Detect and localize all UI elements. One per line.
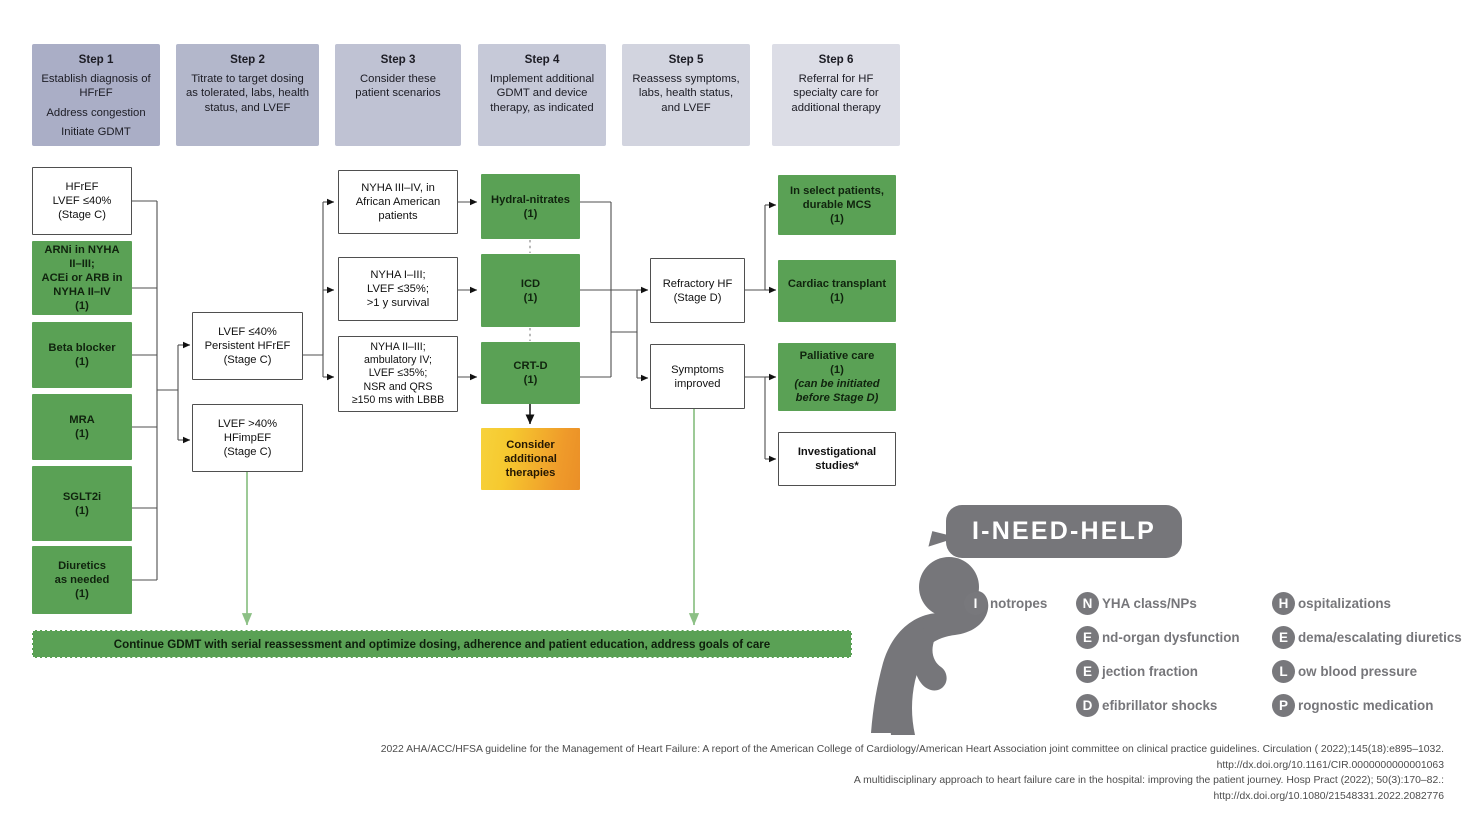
box-line: Refractory HF	[655, 277, 740, 291]
box-line: ARNi in NYHA	[36, 243, 128, 257]
box-line: (1)	[36, 504, 128, 518]
citation-link[interactable]: http://dx.doi.org/10.1161/CIR.0000000000…	[40, 758, 1444, 774]
step-line: Initiate GDMT	[61, 125, 131, 139]
i-need-help-title: I-NEED-HELP	[972, 517, 1156, 546]
citation-line: A multidisciplinary approach to heart fa…	[40, 773, 1444, 789]
refractory-hf-box[interactable]: Refractory HF (Stage D)	[650, 258, 745, 323]
step-line: Titrate to target dosing as tolerated, l…	[184, 72, 311, 115]
step-title: Step 4	[525, 53, 560, 67]
legend-item-nyha: N YHA class/NPs	[1076, 592, 1197, 615]
legend-badge-n: N	[1076, 592, 1099, 615]
box-line: durable MCS	[782, 198, 892, 212]
legend-label: dema/escalating diuretics	[1298, 630, 1462, 645]
box-line: (1)	[782, 291, 892, 305]
box-line: (1)	[36, 299, 128, 313]
box-line: SGLT2i	[36, 490, 128, 504]
cardiac-transplant-box[interactable]: Cardiac transplant (1)	[778, 260, 896, 322]
box-line: >1 y survival	[343, 296, 453, 310]
box-line: ACEi or ARB in	[36, 271, 128, 285]
step-title: Step 2	[230, 53, 265, 67]
box-line: NYHA II–IV	[36, 285, 128, 299]
citations: 2022 AHA/ACC/HFSA guideline for the Mana…	[40, 742, 1444, 804]
step-title: Step 6	[819, 53, 854, 67]
citation-link[interactable]: http://dx.doi.org/10.1080/21548331.2022.…	[40, 789, 1444, 805]
hydral-nitrates-box[interactable]: Hydral-nitrates (1)	[481, 174, 580, 239]
box-line: NYHA III–IV, in	[343, 181, 453, 195]
legend-item-inotropes: I notropes	[964, 592, 1047, 615]
box-line: (1)	[485, 291, 576, 305]
box-line: LVEF ≤40%	[37, 194, 127, 208]
legend-label: notropes	[990, 596, 1047, 611]
diuretics-box[interactable]: Diuretics as needed (1)	[32, 546, 132, 614]
legend-label: jection fraction	[1102, 664, 1198, 679]
box-line: Consider	[485, 438, 576, 452]
legend-label: YHA class/NPs	[1102, 596, 1197, 611]
box-line: (1)	[782, 212, 892, 226]
legend-label: ospitalizations	[1298, 596, 1391, 611]
consider-additional-therapies-box[interactable]: Consider additional therapies	[481, 428, 580, 490]
hfref-lvef-box[interactable]: HFrEF LVEF ≤40% (Stage C)	[32, 167, 132, 235]
nyha-2-3-crt-criteria-box[interactable]: NYHA II–III; ambulatory IV; LVEF ≤35%; N…	[338, 336, 458, 412]
durable-mcs-box[interactable]: In select patients, durable MCS (1)	[778, 175, 896, 235]
box-line: ambulatory IV;	[343, 354, 453, 367]
banner-text: Continue GDMT with serial reassessment a…	[114, 638, 771, 651]
legend-item-hospitalizations: H ospitalizations	[1272, 592, 1391, 615]
box-line-italic: (can be initiated	[782, 377, 892, 391]
step-line: Address congestion	[46, 106, 145, 120]
box-line: HFrEF	[37, 180, 127, 194]
arni-box[interactable]: ARNi in NYHA II–III; ACEi or ARB in NYHA…	[32, 241, 132, 315]
legend-badge-h: H	[1272, 592, 1295, 615]
i-need-help-bubble: I-NEED-HELP	[946, 505, 1182, 558]
box-line: Symptoms	[655, 363, 740, 377]
box-line: LVEF ≤35%;	[343, 282, 453, 296]
box-line: (1)	[36, 587, 128, 601]
step-header-3: Step 3 Consider these patient scenarios	[335, 44, 461, 146]
step-line: Consider these patient scenarios	[343, 72, 453, 100]
box-line: therapies	[485, 466, 576, 480]
box-line: LVEF ≤35%;	[343, 367, 453, 380]
legend-item-end-organ: E nd-organ dysfunction	[1076, 626, 1240, 649]
sglt2i-box[interactable]: SGLT2i (1)	[32, 466, 132, 541]
box-line: MRA	[36, 413, 128, 427]
step-header-5: Step 5 Reassess symptoms, labs, health s…	[622, 44, 750, 146]
step-header-1: Step 1 Establish diagnosis of HFrEF Addr…	[32, 44, 160, 146]
flowchart-canvas: Step 1 Establish diagnosis of HFrEF Addr…	[0, 0, 1481, 833]
box-line: Beta blocker	[36, 341, 128, 355]
box-line: NYHA II–III;	[343, 341, 453, 354]
palliative-care-box[interactable]: Palliative care (1) (can be initiated be…	[778, 343, 896, 411]
legend-badge-i: I	[964, 592, 987, 615]
box-line: (Stage C)	[37, 208, 127, 222]
step-header-4: Step 4 Implement additional GDMT and dev…	[478, 44, 606, 146]
box-line: additional	[485, 452, 576, 466]
box-line: Persistent HFrEF	[197, 339, 298, 353]
box-line: Diuretics	[36, 559, 128, 573]
hfimpef-box[interactable]: LVEF >40% HFimpEF (Stage C)	[192, 404, 303, 472]
box-line: LVEF >40%	[197, 417, 298, 431]
symptoms-improved-box[interactable]: Symptoms improved	[650, 344, 745, 409]
box-line: (1)	[782, 363, 892, 377]
legend-item-prognostic-med: P rognostic medication	[1272, 694, 1433, 717]
box-line: Investigational	[783, 445, 891, 459]
box-line: (Stage D)	[655, 291, 740, 305]
legend-badge-e: E	[1272, 626, 1295, 649]
nyha-3-4-african-american-box[interactable]: NYHA III–IV, in African American patient…	[338, 170, 458, 234]
box-line: as needed	[36, 573, 128, 587]
box-line: NSR and QRS	[343, 381, 453, 394]
box-line: studies*	[783, 459, 891, 473]
nyha-1-3-icd-criteria-box[interactable]: NYHA I–III; LVEF ≤35%; >1 y survival	[338, 257, 458, 321]
legend-item-ejection-fraction: E jection fraction	[1076, 660, 1198, 683]
legend-badge-e: E	[1076, 626, 1099, 649]
legend-label: ow blood pressure	[1298, 664, 1417, 679]
step-title: Step 1	[79, 53, 114, 67]
legend-badge-l: L	[1272, 660, 1295, 683]
box-line: ICD	[485, 277, 576, 291]
step-line: Implement additional GDMT and device the…	[486, 72, 598, 115]
box-line: (Stage C)	[197, 445, 298, 459]
legend-label: rognostic medication	[1298, 698, 1433, 713]
box-line: HFimpEF	[197, 431, 298, 445]
step-line: Reassess symptoms, labs, health status, …	[630, 72, 742, 115]
legend-badge-e: E	[1076, 660, 1099, 683]
box-line: (1)	[36, 355, 128, 369]
box-line-italic: before Stage D)	[782, 391, 892, 405]
legend-item-low-bp: L ow blood pressure	[1272, 660, 1417, 683]
box-line: II–III;	[36, 257, 128, 271]
box-line: (1)	[485, 207, 576, 221]
box-line: patients	[343, 209, 453, 223]
crt-d-box[interactable]: CRT-D (1)	[481, 342, 580, 404]
box-line: African American	[343, 195, 453, 209]
legend-item-edema: E dema/escalating diuretics	[1272, 626, 1462, 649]
step-line: Establish diagnosis of HFrEF	[40, 72, 152, 100]
citation-line: 2022 AHA/ACC/HFSA guideline for the Mana…	[40, 742, 1444, 758]
step-title: Step 5	[669, 53, 704, 67]
legend-label: nd-organ dysfunction	[1102, 630, 1240, 645]
icd-box[interactable]: ICD (1)	[481, 254, 580, 327]
box-line: In select patients,	[782, 184, 892, 198]
investigational-studies-box[interactable]: Investigational studies*	[778, 432, 896, 486]
legend-badge-p: P	[1272, 694, 1295, 717]
mra-box[interactable]: MRA (1)	[32, 394, 132, 460]
legend-item-defibrillator: D efibrillator shocks	[1076, 694, 1217, 717]
step-line: Referral for HF specialty care for addit…	[780, 72, 892, 115]
continue-gdmt-banner[interactable]: Continue GDMT with serial reassessment a…	[32, 630, 852, 658]
box-line: Cardiac transplant	[782, 277, 892, 291]
box-line: (Stage C)	[197, 353, 298, 367]
box-line: Palliative care	[782, 349, 892, 363]
legend-label: efibrillator shocks	[1102, 698, 1217, 713]
box-line: CRT-D	[485, 359, 576, 373]
persistent-hfref-box[interactable]: LVEF ≤40% Persistent HFrEF (Stage C)	[192, 312, 303, 380]
step-header-2: Step 2 Titrate to target dosing as toler…	[176, 44, 319, 146]
box-line: NYHA I–III;	[343, 268, 453, 282]
step-title: Step 3	[381, 53, 416, 67]
legend-badge-d: D	[1076, 694, 1099, 717]
box-line: improved	[655, 377, 740, 391]
step-header-6: Step 6 Referral for HF specialty care fo…	[772, 44, 900, 146]
box-line: LVEF ≤40%	[197, 325, 298, 339]
box-line: (1)	[485, 373, 576, 387]
box-line: (1)	[36, 427, 128, 441]
box-line: Hydral-nitrates	[485, 193, 576, 207]
beta-blocker-box[interactable]: Beta blocker (1)	[32, 322, 132, 388]
box-line: ≥150 ms with LBBB	[343, 394, 453, 407]
